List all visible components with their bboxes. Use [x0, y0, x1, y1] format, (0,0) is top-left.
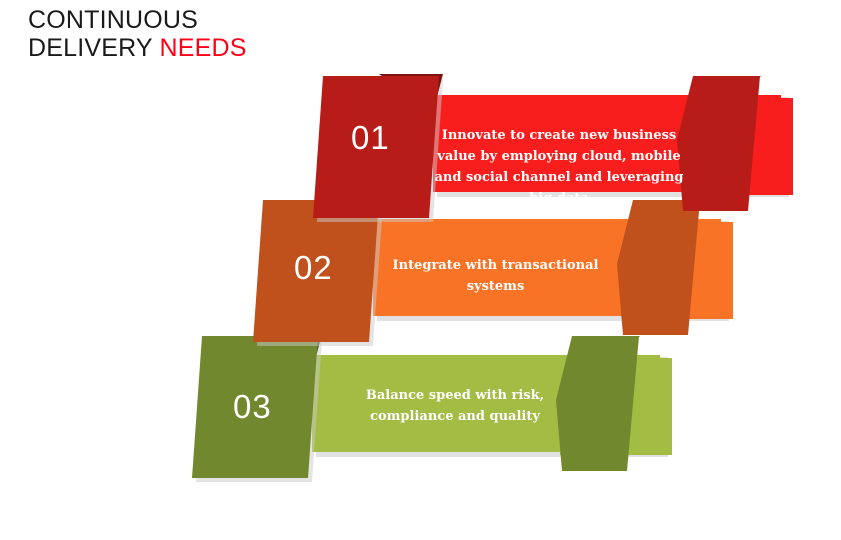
ribbon-01-tab [313, 76, 439, 218]
slide-canvas: CONTINUOUS DELIVERY NEEDS 03 Balance spe… [0, 0, 841, 540]
ribbon-01-shape [0, 0, 841, 540]
ribbon-01[interactable]: 01 Innovate to create new business value… [0, 0, 841, 540]
ribbon-01-fold [677, 76, 760, 211]
